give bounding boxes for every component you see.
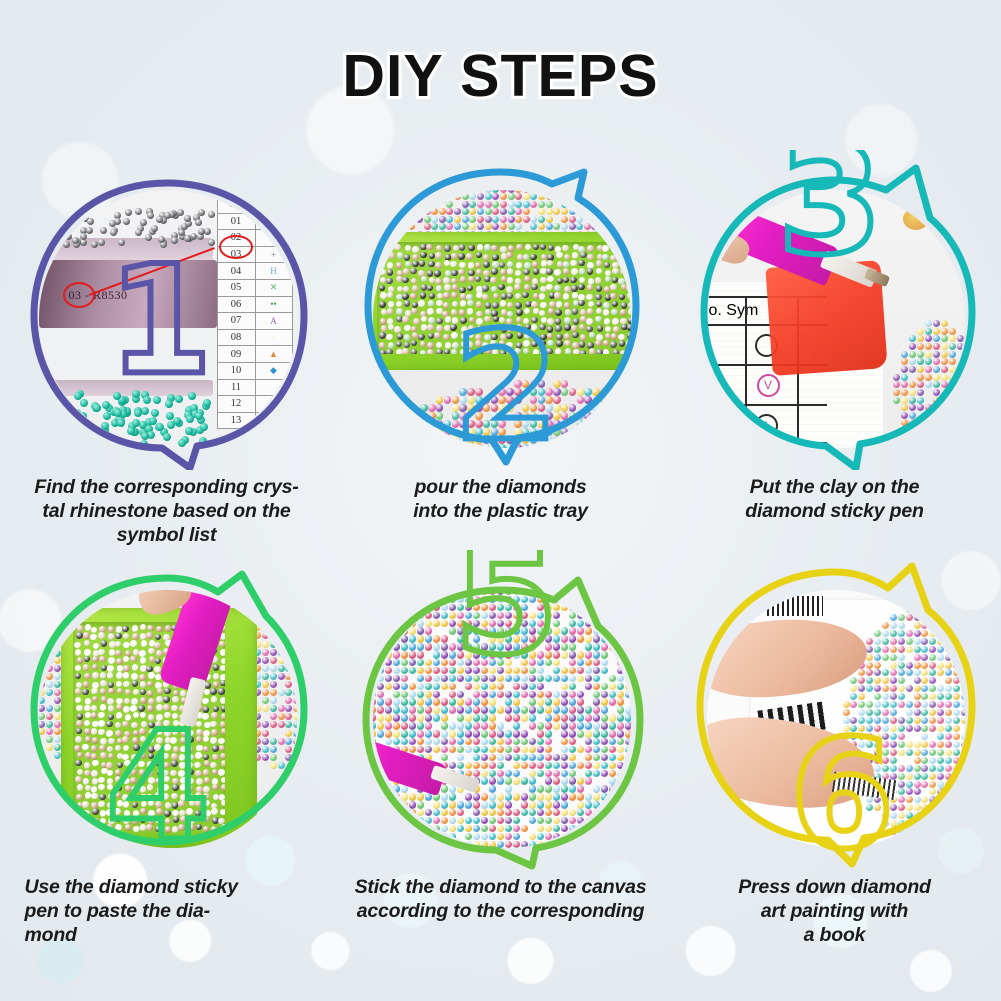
step-number-1: 1 (108, 234, 212, 408)
step-number-2: 2 (454, 300, 558, 470)
step-caption-2: pour the diamonds into the plastic tray (346, 476, 656, 524)
step-caption-5: Stick the diamond to the canvas accordin… (346, 876, 656, 924)
step-caption-6: Press down diamond art painting with a b… (680, 876, 990, 948)
bubble-outline-1: 1 (12, 150, 322, 470)
step-number-5: 5 (454, 550, 558, 688)
page-title: DIY STEPS (0, 42, 1001, 110)
bubble-outline-3: 3 (680, 150, 990, 470)
bubble-outline-5: 5 (346, 550, 656, 870)
bubble-outline-4: 4 (12, 550, 322, 870)
step-card-4: 4 Use the diamond sticky pen to paste th… (0, 550, 333, 948)
step-number-4: 4 (106, 700, 210, 870)
step-bubble-1: 03 - R8530 No0102>03+04H05✕06••07A08·09▲… (12, 150, 322, 470)
step-number-3: 3 (778, 150, 882, 288)
step-card-5: 5 Stick the diamond to the canvas accord… (334, 550, 667, 924)
bubble-outline-2: 2 (346, 150, 656, 470)
step-caption-4: Use the diamond sticky pen to paste the … (9, 876, 325, 948)
step-card-6: 6 Press down diamond art painting with a… (668, 550, 1001, 948)
step-bubble-6: 6 (680, 550, 990, 870)
bubble-outline-6: 6 (680, 550, 990, 870)
infographic-page: DIY STEPS 03 - R8530 No0102>03+04H05✕06•… (0, 0, 1001, 1001)
steps-grid: 03 - R8530 No0102>03+04H05✕06••07A08·09▲… (0, 150, 1001, 1000)
step-caption-3: Put the clay on the diamond sticky pen (680, 476, 990, 524)
step-card-1: 03 - R8530 No0102>03+04H05✕06••07A08·09▲… (0, 150, 333, 548)
step-card-3: o. Sym V + (668, 150, 1001, 524)
step-bubble-2: 2 (346, 150, 656, 470)
step-card-2: 2 pour the diamonds into the plastic tra… (334, 150, 667, 524)
step-bubble-5: 5 (346, 550, 656, 870)
step-caption-1: Find the corresponding crys- tal rhinest… (12, 476, 322, 548)
step-number-6: 6 (790, 708, 894, 870)
step-bubble-4: 4 (12, 550, 322, 870)
step-bubble-3: o. Sym V + (680, 150, 990, 470)
